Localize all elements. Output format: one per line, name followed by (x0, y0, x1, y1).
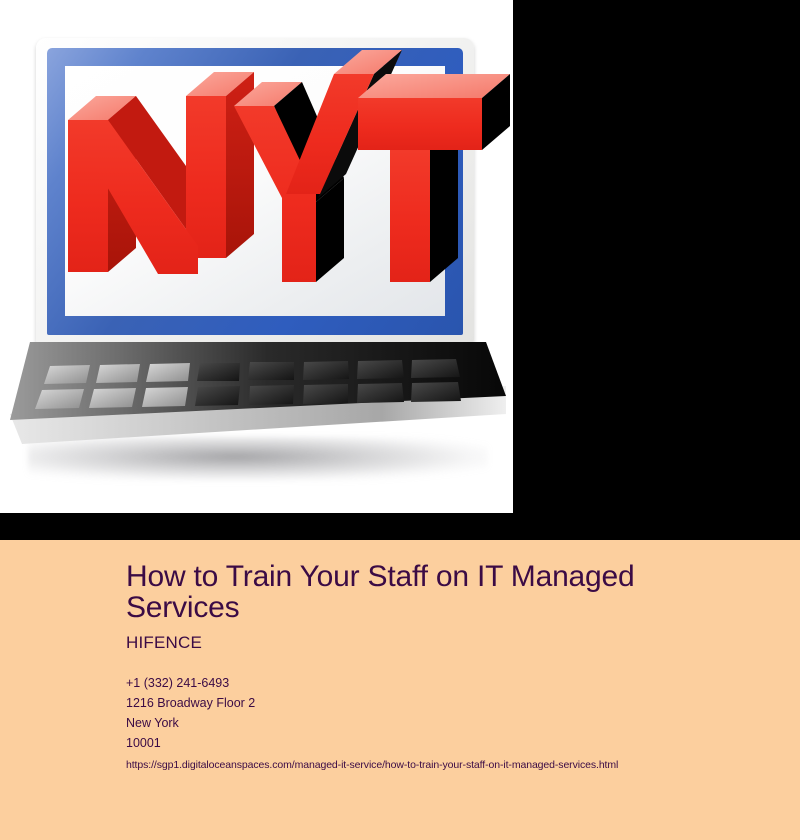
laptop-screen (65, 66, 445, 316)
contact-city: New York (126, 713, 255, 733)
info-panel: How to Train Your Staff on IT Managed Se… (0, 540, 800, 840)
brand-name: HIFENCE (126, 633, 202, 653)
contact-street: 1216 Broadway Floor 2 (126, 693, 255, 713)
contact-phone: +1 (332) 241-6493 (126, 673, 255, 693)
contact-details: +1 (332) 241-6493 1216 Broadway Floor 2 … (126, 673, 255, 753)
source-url[interactable]: https://sgp1.digitaloceanspaces.com/mana… (126, 759, 618, 771)
contact-zip: 10001 (126, 733, 255, 753)
laptop-illustration (0, 0, 513, 513)
laptop-keyboard (8, 340, 508, 458)
hero-section (0, 0, 800, 540)
page-title: How to Train Your Staff on IT Managed Se… (126, 562, 726, 623)
hero-image (0, 0, 513, 513)
